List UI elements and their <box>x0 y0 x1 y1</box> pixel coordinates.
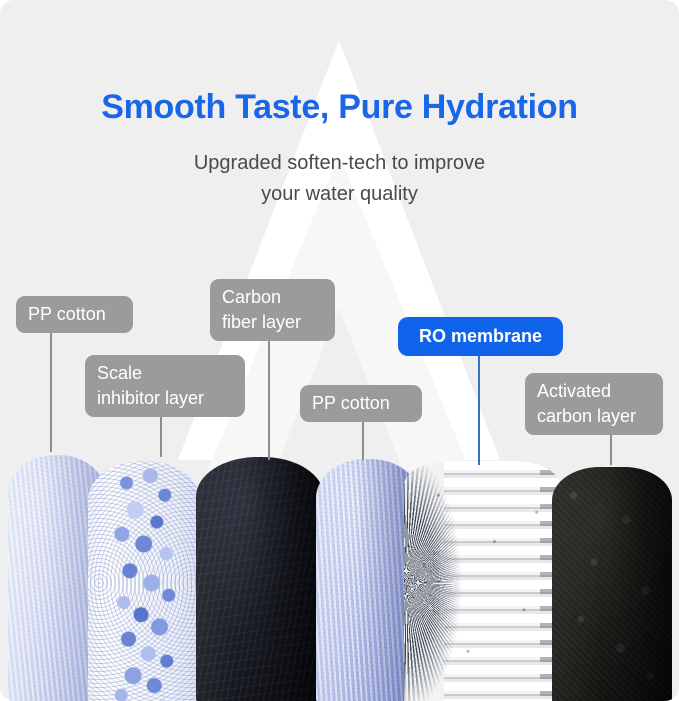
page-subtitle: Upgraded soften-tech to improve your wat… <box>0 148 679 210</box>
subtitle-line-2: your water quality <box>0 179 679 210</box>
product-feature-card: Smooth Taste, Pure Hydration Upgraded so… <box>0 0 679 701</box>
filter-layer-scale-inhibitor <box>88 461 200 701</box>
scale-inhibitor-beads <box>112 461 178 701</box>
callout-pp-cotton-2[interactable]: PP cotton <box>300 385 422 422</box>
page-title: Smooth Taste, Pure Hydration <box>0 88 679 127</box>
subtitle-line-1: Upgraded soften-tech to improve <box>194 152 485 174</box>
carbon-fiber-shading <box>196 457 324 701</box>
filter-layer-carbon-fiber <box>196 457 324 701</box>
filter-layer-activated-carbon <box>552 467 672 701</box>
ro-membrane-specks <box>404 461 560 701</box>
callout-activated-carbon-layer[interactable]: Activated carbon layer <box>525 373 663 435</box>
callout-carbon-fiber-layer[interactable]: Carbon fiber layer <box>210 279 335 341</box>
leader-line-pp-cotton-2 <box>362 416 364 460</box>
leader-line-carbon-fiber <box>268 333 270 460</box>
filter-layer-ro-membrane <box>404 461 560 701</box>
callout-scale-inhibitor-layer[interactable]: Scale inhibitor layer <box>85 355 245 417</box>
leader-line-ro-membrane <box>478 355 480 465</box>
callout-ro-membrane[interactable]: RO membrane <box>398 317 563 356</box>
leader-line-pp-cotton-1 <box>50 327 52 452</box>
callout-pp-cotton-1[interactable]: PP cotton <box>16 296 133 333</box>
filter-layer-stack <box>0 446 679 701</box>
activated-carbon-shading <box>552 467 672 701</box>
